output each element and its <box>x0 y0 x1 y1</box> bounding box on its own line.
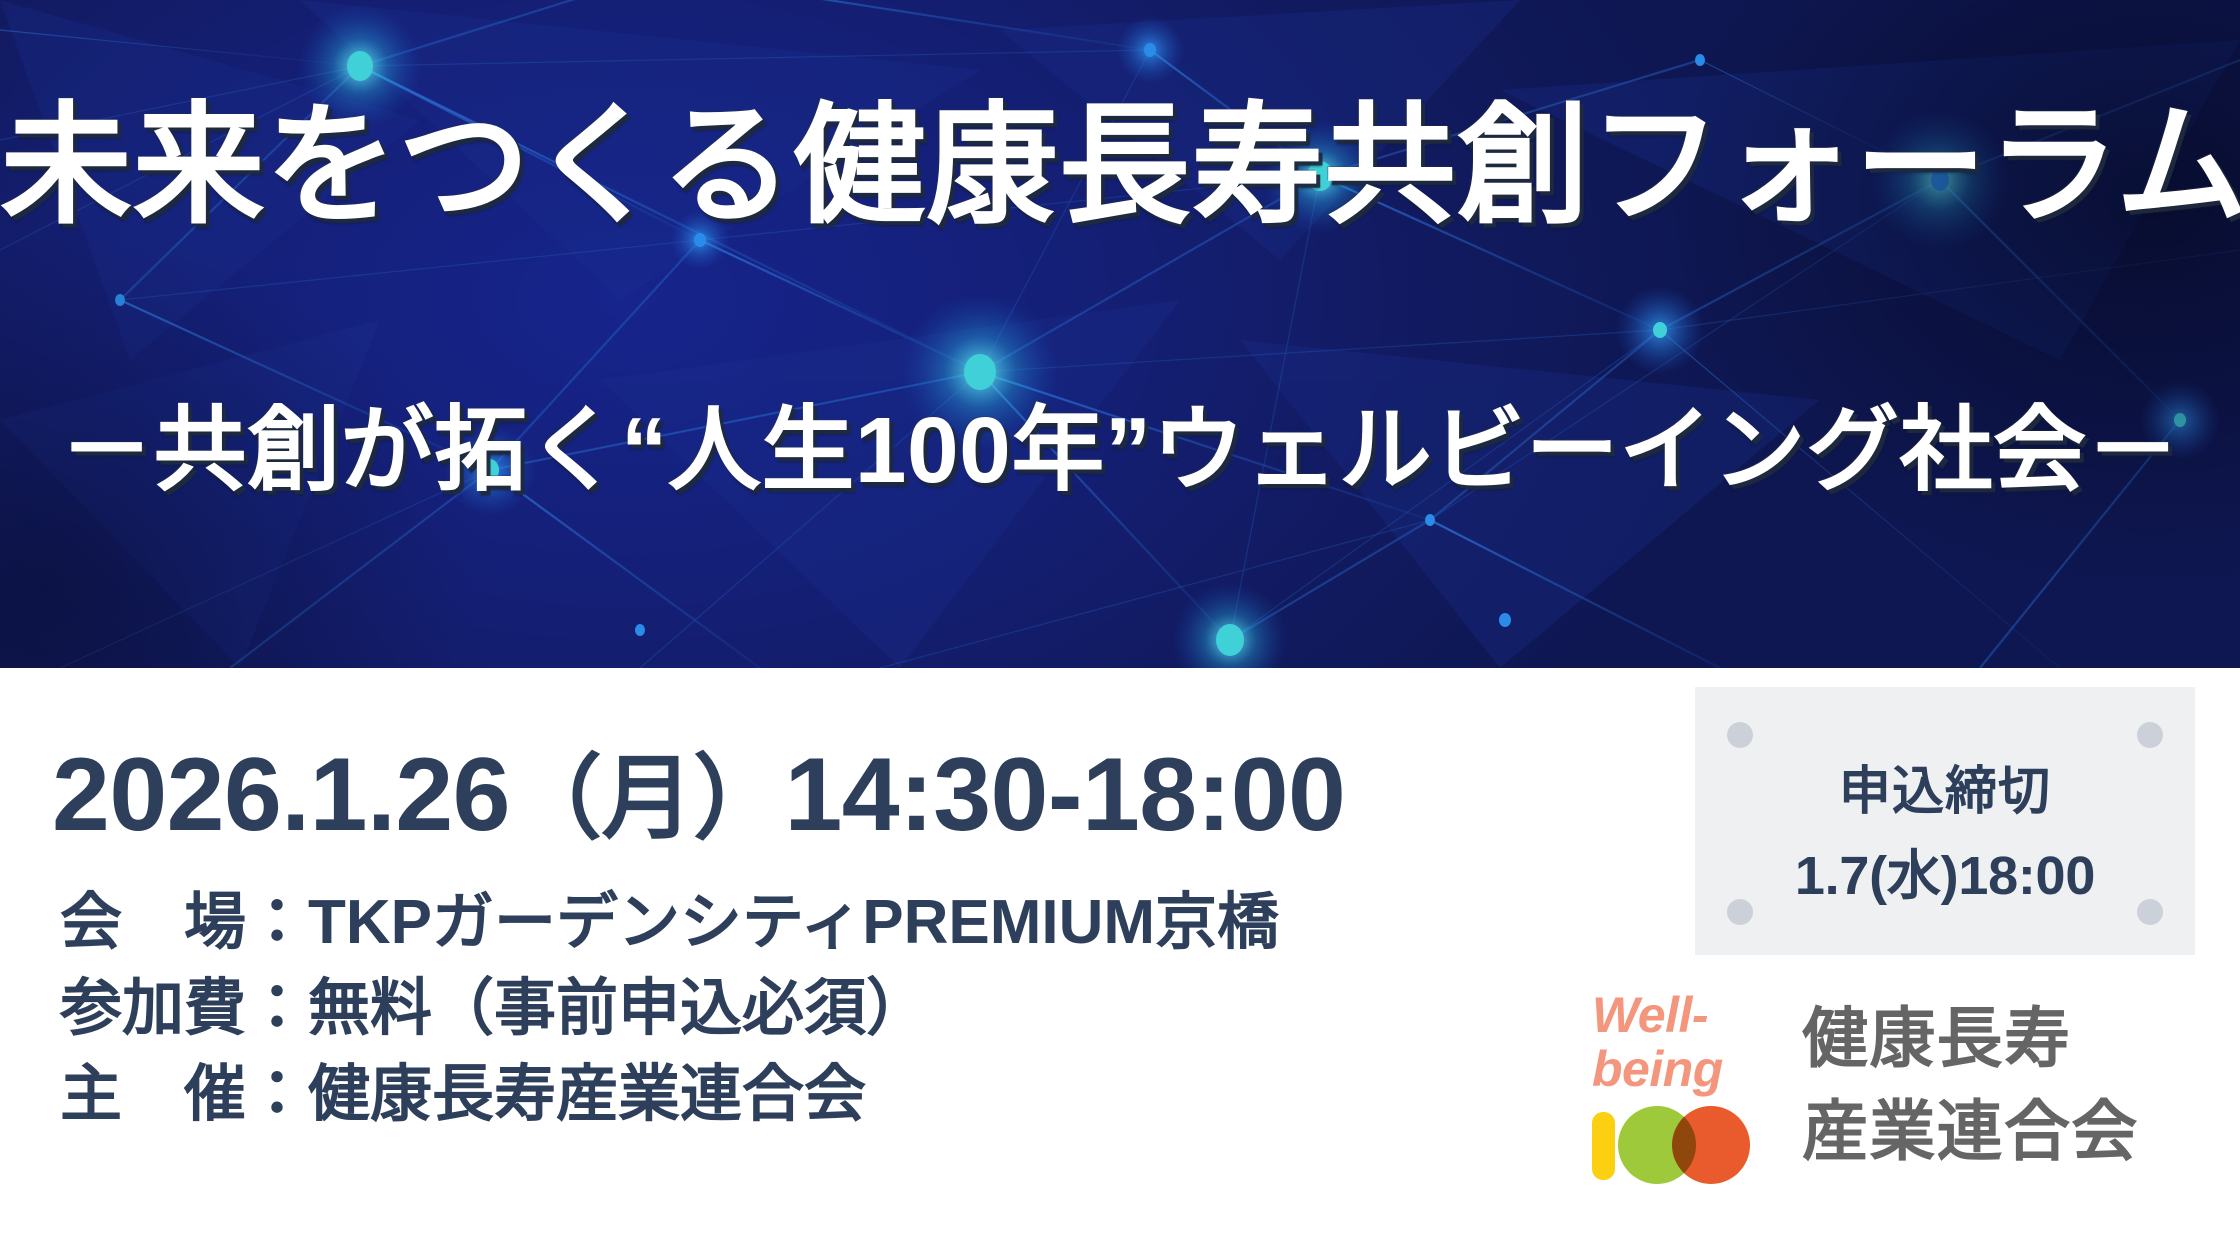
event-date: 2026.1.26 <box>52 737 510 853</box>
organization-name: 健康長寿 産業連合会 <box>1802 992 2139 1178</box>
wellbeing100-mark: Well- being <box>1588 988 1788 1184</box>
numeral-zero-orange-circle <box>1672 1106 1750 1184</box>
event-datetime: 2026.1.26（月）14:30-18:00 <box>52 724 1345 857</box>
corner-dot-top-right <box>2137 722 2163 748</box>
numeral-one-shape <box>1592 1112 1615 1180</box>
wellbeing-wordmark-line2: being <box>1592 1042 1788 1096</box>
hero-text-block: 未来をつくる健康長寿共創フォーラム －共創が拓く“人生100年”ウェルビーイング… <box>0 0 2240 668</box>
organization-name-line2: 産業連合会 <box>1802 1085 2139 1178</box>
wellbeing-wordmark: Well- being <box>1592 988 1788 1096</box>
organization-name-line1: 健康長寿 <box>1802 992 2139 1085</box>
event-banner: 未来をつくる健康長寿共創フォーラム －共創が拓く“人生100年”ウェルビーイング… <box>0 0 2240 1260</box>
event-time: 14:30-18:00 <box>784 737 1345 853</box>
info-row-fee: 参加費：無料（事前申込必須） <box>60 966 1279 1052</box>
deadline-date: 1.7(水)18:00 <box>1695 831 2195 910</box>
event-info-list: 会 場：TKPガーデンシティPREMIUM京橋 参加費：無料（事前申込必須） 主… <box>60 880 1279 1138</box>
event-weekday: （月） <box>510 748 784 850</box>
organization-logo: Well- being 健康長寿 産業連合会 <box>1588 988 2228 1188</box>
hero-section: 未来をつくる健康長寿共創フォーラム －共創が拓く“人生100年”ウェルビーイング… <box>0 0 2240 668</box>
info-row-venue: 会 場：TKPガーデンシティPREMIUM京橋 <box>60 880 1279 966</box>
info-row-organizer: 主 催：健康長寿産業連合会 <box>60 1052 1279 1138</box>
event-subtitle: －共創が拓く“人生100年”ウェルビーイング社会－ <box>0 398 2240 502</box>
hundred-numeral-graphic <box>1588 1102 1788 1184</box>
application-deadline-box: 申込締切 1.7(水)18:00 <box>1695 687 2195 955</box>
corner-dot-top-left <box>1727 722 1753 748</box>
wellbeing-wordmark-line1: Well- <box>1592 988 1788 1042</box>
deadline-label: 申込締切 <box>1695 749 2195 824</box>
event-title: 未来をつくる健康長寿共創フォーラム <box>0 92 2240 240</box>
